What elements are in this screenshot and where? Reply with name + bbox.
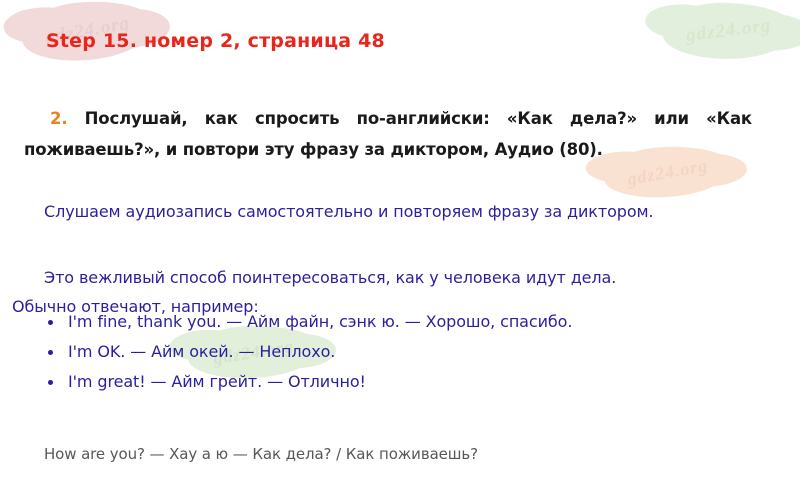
list-item-text: I'm OK. — Айм окей. — Неплохо. — [68, 342, 335, 361]
task-number: 2. — [50, 109, 67, 128]
task-text: Послушай, как спросить по-английски: «Ка… — [24, 109, 752, 159]
bullet-dot-icon — [48, 350, 53, 355]
translation-footnote: How are you? — Хау а ю — Как дела? / Как… — [44, 445, 478, 463]
watermark-cloud-top-right: gdz24.org — [662, 1, 796, 62]
example-list: I'm fine, thank you. — Айм файн, сэнк ю.… — [0, 307, 572, 397]
bullet-dot-icon — [48, 320, 53, 325]
page-title: Step 15. номер 2, страница 48 — [46, 30, 385, 52]
list-item-text: I'm fine, thank you. — Айм файн, сэнк ю.… — [68, 312, 572, 331]
watermark-blob — [662, 1, 796, 62]
worksheet-page: gdz24.org gdz24.org gdz24.org gdz24.org … — [0, 0, 800, 481]
list-item: I'm fine, thank you. — Айм файн, сэнк ю.… — [0, 307, 572, 337]
answer-line-1: Слушаем аудиозапись самостоятельно и пов… — [44, 202, 653, 221]
list-item: I'm OK. — Айм окей. — Неплохо. — [0, 337, 572, 367]
bullet-dot-icon — [48, 380, 53, 385]
list-item-text: I'm great! — Айм грейт. — Отлично! — [68, 372, 366, 391]
watermark-label: gdz24.org — [685, 15, 773, 47]
list-item: I'm great! — Айм грейт. — Отлично! — [0, 367, 572, 397]
task-statement: 2. Послушай, как спросить по-английски: … — [24, 103, 752, 165]
answer-line-2: Это вежливый способ поинтересоваться, ка… — [44, 268, 616, 287]
